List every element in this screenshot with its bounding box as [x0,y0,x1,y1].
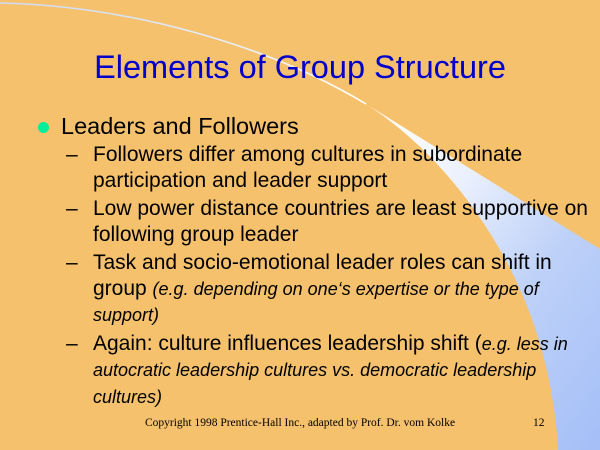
bullet-level2-item-4: – Again: culture influences leadership s… [33,331,593,411]
bullet-level2-text: Task and socio-emotional leader roles ca… [93,250,593,329]
dash-icon: – [66,331,78,357]
bullet-italic-text: (e.g. depending on one‘s expertise or th… [93,279,539,326]
bullet-level2-text: Low power distance countries are least s… [93,196,593,248]
bullet-level2-item-2: – Low power distance countries are least… [33,196,593,248]
bullet-main-text: Low power distance countries are least s… [93,197,588,246]
page-number: 12 [533,417,545,429]
dash-icon: – [66,250,78,276]
bullet-level2-item-1: – Followers differ among cultures in sub… [33,142,593,194]
bullet-level2-item-3: – Task and socio-emotional leader roles … [33,250,593,329]
slide-body: Leaders and Followers – Followers differ… [33,113,593,410]
dash-icon: – [66,196,78,222]
dash-icon: – [66,142,78,168]
bullet-level1-label: Leaders and Followers [61,113,299,139]
bullet-level2-text: Again: culture influences leadership shi… [93,331,593,411]
copyright-footer: Copyright 1998 Prentice-Hall Inc., adapt… [0,417,600,429]
slide-canvas: Elements of Group Structure Leaders and … [0,0,600,450]
bullet-level1-leaders-and-followers: Leaders and Followers [33,113,593,140]
bullet-main-text: Again: culture influences leadership shi… [93,332,482,355]
page-title: Elements of Group Structure [0,51,600,84]
bullet-main-text: Followers differ among cultures in subor… [93,143,522,192]
green-bullet-icon [38,122,49,133]
bullet-level2-text: Followers differ among cultures in subor… [93,142,593,194]
